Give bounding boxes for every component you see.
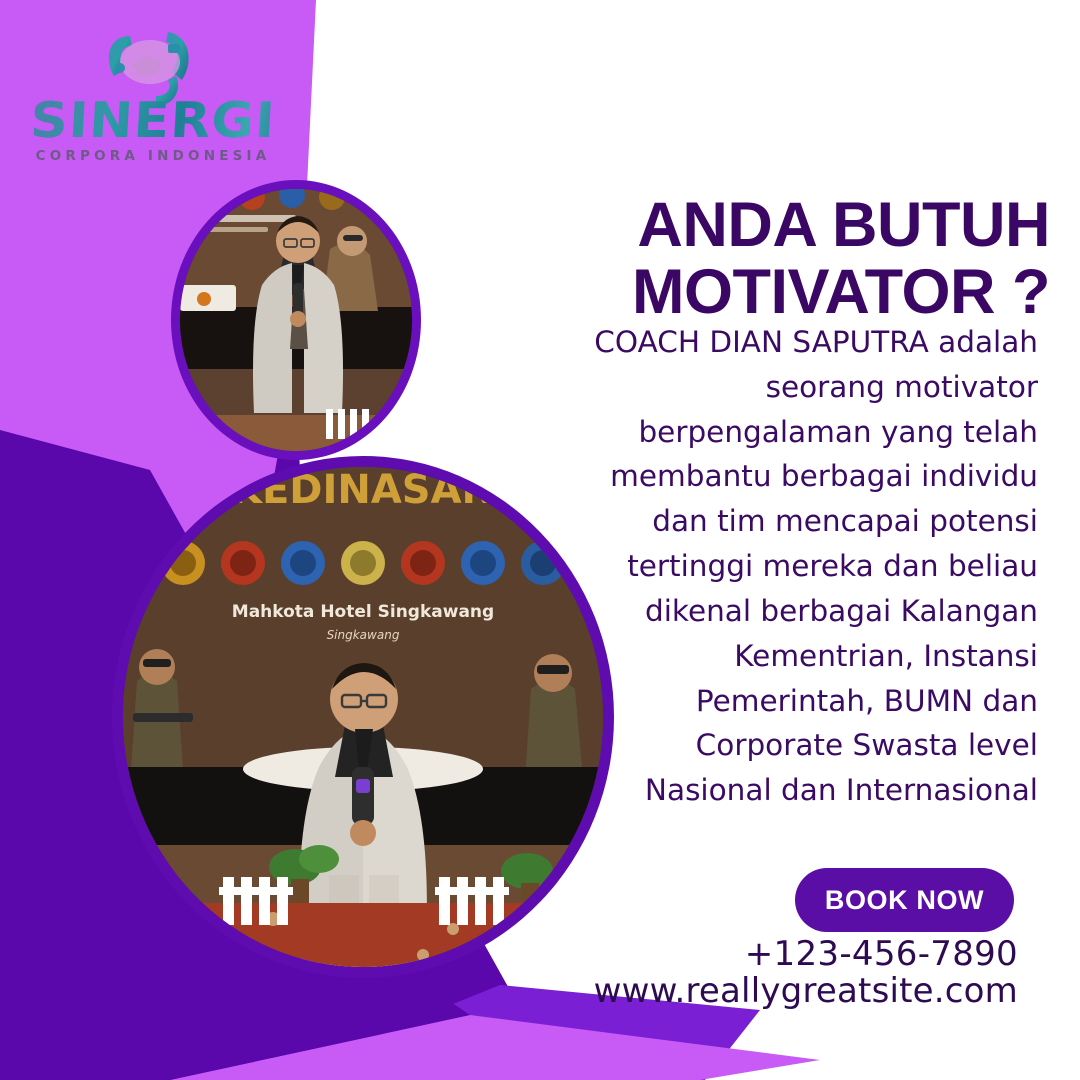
website-url[interactable]: www.reallygreatsite.com: [500, 971, 1018, 1011]
body-line: dan tim mencapai potensi: [560, 499, 1038, 544]
speaker-photo-large-image: KEDINASAN Mahkota Hotel Singkawang Singk…: [123, 467, 603, 967]
phone-number[interactable]: +123-456-7890: [540, 934, 1018, 974]
svg-text:KEDINASAN: KEDINASAN: [231, 467, 495, 513]
logo-subtext: CORPORA INDONESIA: [28, 148, 278, 164]
headline-line-2: MOTIVATOR ?: [505, 259, 1050, 326]
speaker-photo-small: [171, 180, 421, 460]
body-line: dikenal berbagai Kalangan: [560, 589, 1038, 634]
body-line: Nasional dan Internasional: [560, 768, 1038, 813]
body-line: Kementrian, Instansi: [560, 634, 1038, 679]
svg-text:Mahkota Hotel Singkawang: Mahkota Hotel Singkawang: [232, 602, 494, 622]
headline-line-1: ANDA BUTUH: [505, 192, 1050, 259]
body-line: seorang motivator: [560, 365, 1038, 410]
body-line: membantu berbagai individu: [560, 454, 1038, 499]
speaker-photo-large: KEDINASAN Mahkota Hotel Singkawang Singk…: [112, 456, 614, 978]
speaker-photo-small-image: [180, 189, 412, 451]
logo-wordmark: SINERGI: [19, 96, 287, 145]
book-now-button[interactable]: BOOK NOW: [795, 868, 1014, 932]
body-line: Corporate Swasta level: [560, 723, 1038, 768]
shape-magenta-bottom-band: [170, 1015, 820, 1080]
page-title: ANDA BUTUH MOTIVATOR ?: [505, 192, 1050, 326]
poster-canvas: SINERGI CORPORA INDONESIA: [0, 0, 1080, 1080]
brand-logo: SINERGI CORPORA INDONESIA: [28, 18, 278, 178]
body-line: berpengalaman yang telah: [560, 410, 1038, 455]
body-line: tertinggi mereka dan beliau: [560, 544, 1038, 589]
svg-text:Singkawang: Singkawang: [327, 628, 400, 642]
body-line: COACH DIAN SAPUTRA adalah: [560, 320, 1038, 365]
body-line: Pemerintah, BUMN dan: [560, 679, 1038, 724]
body-paragraph: COACH DIAN SAPUTRA adalah seorang motiva…: [560, 320, 1038, 813]
